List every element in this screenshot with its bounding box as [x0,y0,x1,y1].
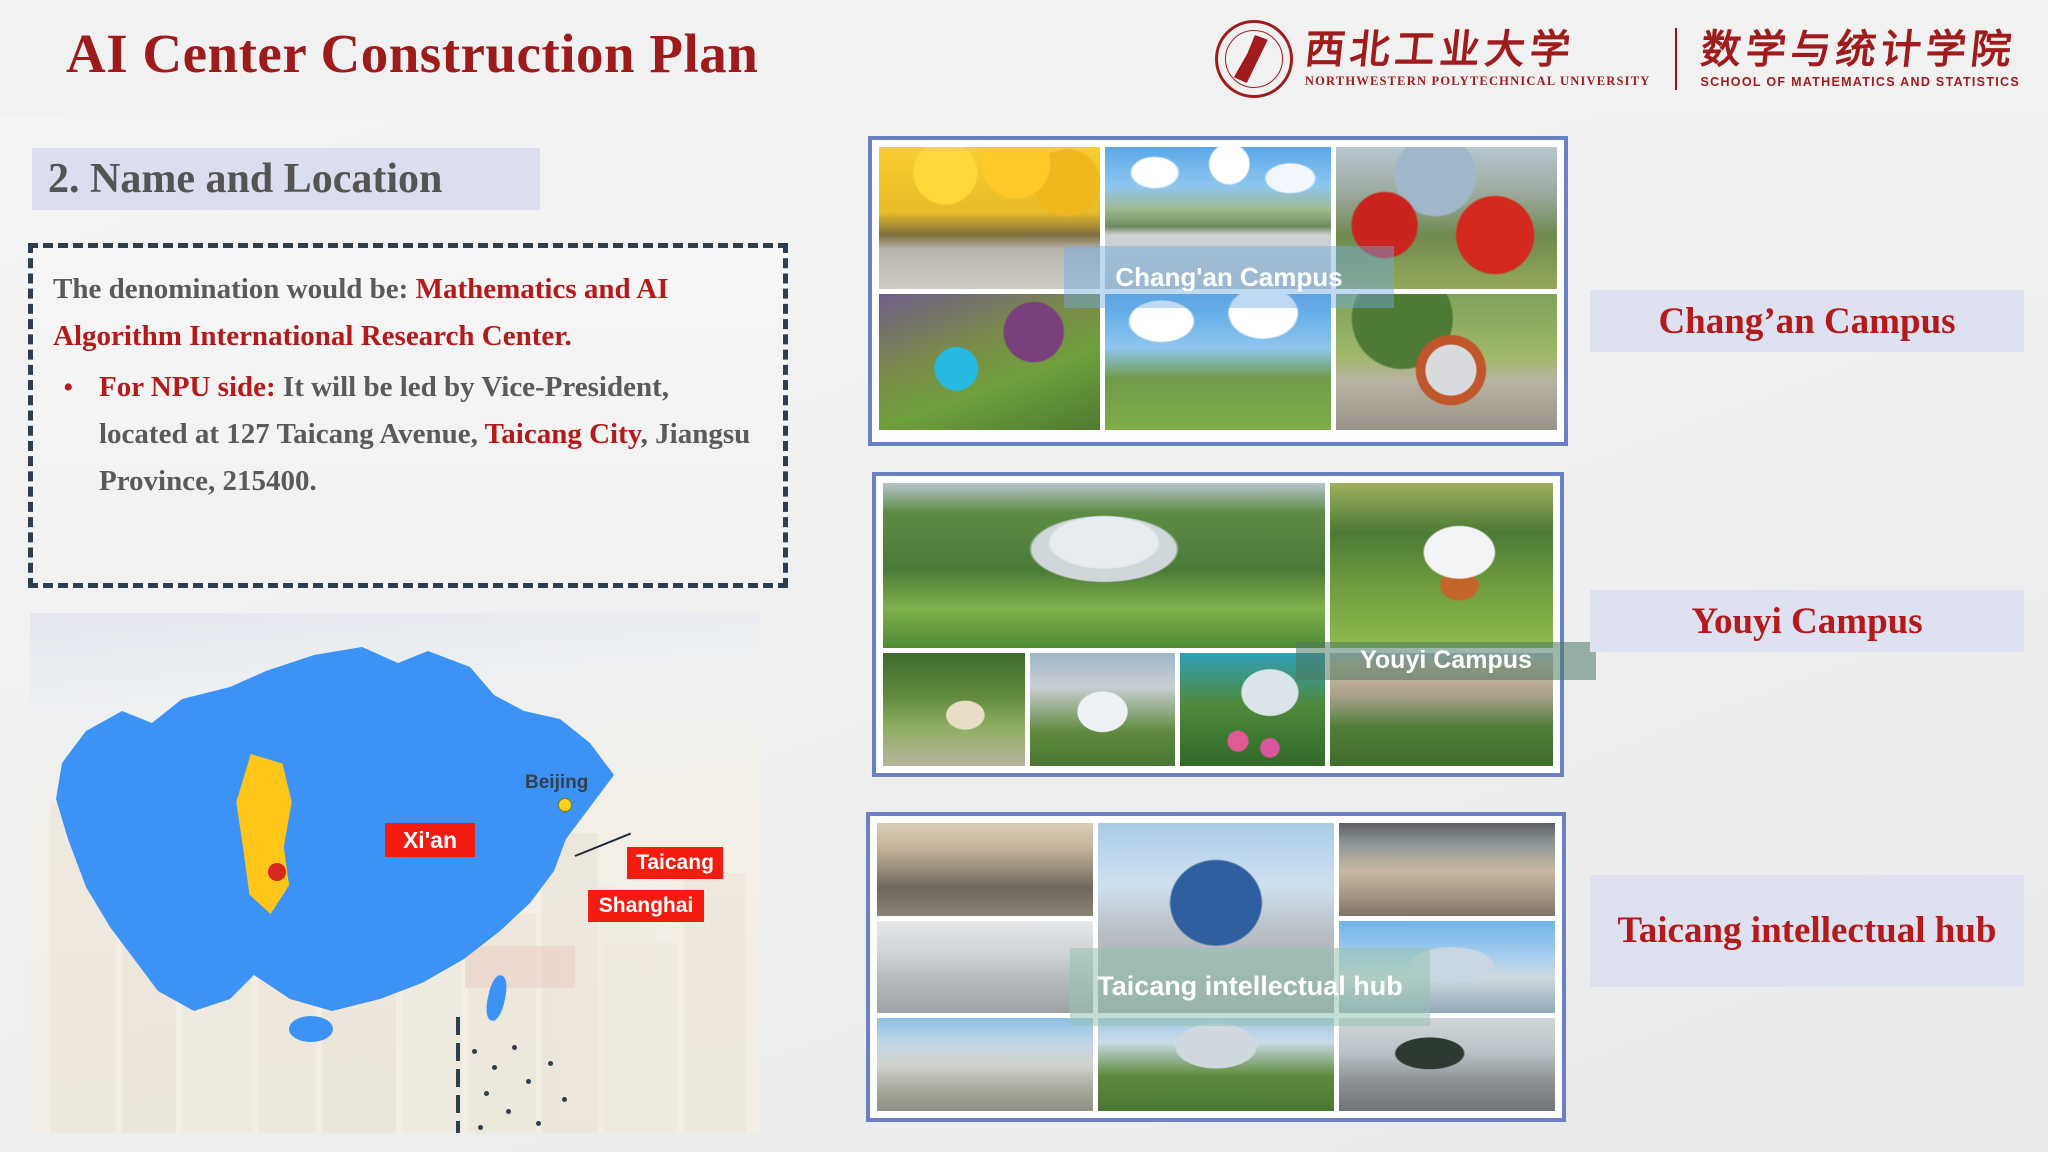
page-title: AI Center Construction Plan [66,22,758,85]
collage-changan-campus[interactable]: Chang'an Campus [868,136,1568,446]
logo-divider [1675,28,1677,90]
photo-city-skyline [1330,653,1553,766]
photo-students-crosswalk [1105,147,1331,289]
photo-ginkgo-avenue [879,147,1100,289]
description-box: The denomination would be: Mathematics a… [28,243,788,588]
country-shape [50,631,650,1031]
beijing-marker-dot [558,798,572,812]
npu-side-text: For NPU side: It will be led by Vice-Pre… [99,364,763,505]
photo-study-lounge [877,823,1093,916]
photo-future-building-render [1339,921,1555,1014]
photo-blue-pagoda-aerial [879,294,1100,430]
school-name-block: 数学与统计学院 SCHOOL OF MATHEMATICS AND STATIS… [1701,29,2020,89]
photo-peony-garden [1180,653,1325,766]
map-label-beijing: Beijing [525,772,588,794]
npu-taicang-sign-text: NPU ♥ TAICANG [1298,1063,1333,1089]
photo-main-building-aerial [883,483,1325,648]
south-sea-islands [466,1039,586,1133]
photo-autumn-red-garden [1336,147,1557,289]
photo-classroom-lecture [1339,1018,1555,1111]
npu-seal-icon [1215,20,1293,98]
npu-side-bullet: • For NPU side: It will be led by Vice-P… [53,364,763,505]
collage-youyi-campus[interactable]: Youyi Campus [872,472,1564,777]
npu-side-lead: For NPU side: [99,371,276,403]
map-label-xian: Xi'an [385,823,475,857]
side-label-taicang-hub: Taicang intellectual hub [1590,875,2024,987]
bullet-marker: • [53,364,99,505]
section-heading: 2. Name and Location [32,148,540,210]
university-logo: 西北工业大学 NORTHWESTERN POLYTECHNICAL UNIVER… [1215,16,2020,102]
taiwan-island [483,974,509,1023]
taicang-city-highlight: Taicang City [485,418,641,450]
university-name-en: NORTHWESTERN POLYTECHNICAL UNIVERSITY [1305,74,1651,89]
photo-fencing-hall [877,921,1093,1014]
school-name-en: SCHOOL OF MATHEMATICS AND STATISTICS [1701,75,2020,89]
photo-npu-taicang-sign: NPU ♥ TAICANG [1098,1018,1333,1111]
photo-sphere-sculpture [1336,294,1557,430]
photo-teaching-building [1030,653,1175,766]
photo-paper-plane-sculpture [1330,483,1553,648]
hainan-island [289,1016,333,1042]
side-label-changan-campus: Chang’an Campus [1590,290,2024,352]
university-name-cn: 西北工业大学 [1303,29,1577,71]
school-name-cn: 数学与统计学院 [1698,29,2017,71]
photo-old-house [883,653,1025,766]
xian-marker-dot [268,863,286,881]
university-name-block: 西北工业大学 NORTHWESTERN POLYTECHNICAL UNIVER… [1305,29,1651,89]
photo-white-monument [1105,294,1331,430]
side-label-youyi-campus: Youyi Campus [1590,590,2024,652]
photo-main-gate-building [1098,823,1333,1013]
section-heading-label: 2. Name and Location [32,155,442,203]
denomination-lead: The denomination would be: [53,273,416,305]
collage-taicang-hub[interactable]: NPU ♥ TAICANG Taicang intellectual hub [866,812,1566,1122]
photo-campus-render [877,1018,1093,1111]
south-sea-dashline [456,1017,460,1133]
photo-glass-atrium [1339,823,1555,916]
denomination-line: The denomination would be: Mathematics a… [53,266,763,360]
map-label-taicang: Taicang [627,847,723,879]
slide-header: AI Center Construction Plan 西北工业大学 NORTH… [0,0,2048,118]
map-label-shanghai: Shanghai [588,890,704,922]
